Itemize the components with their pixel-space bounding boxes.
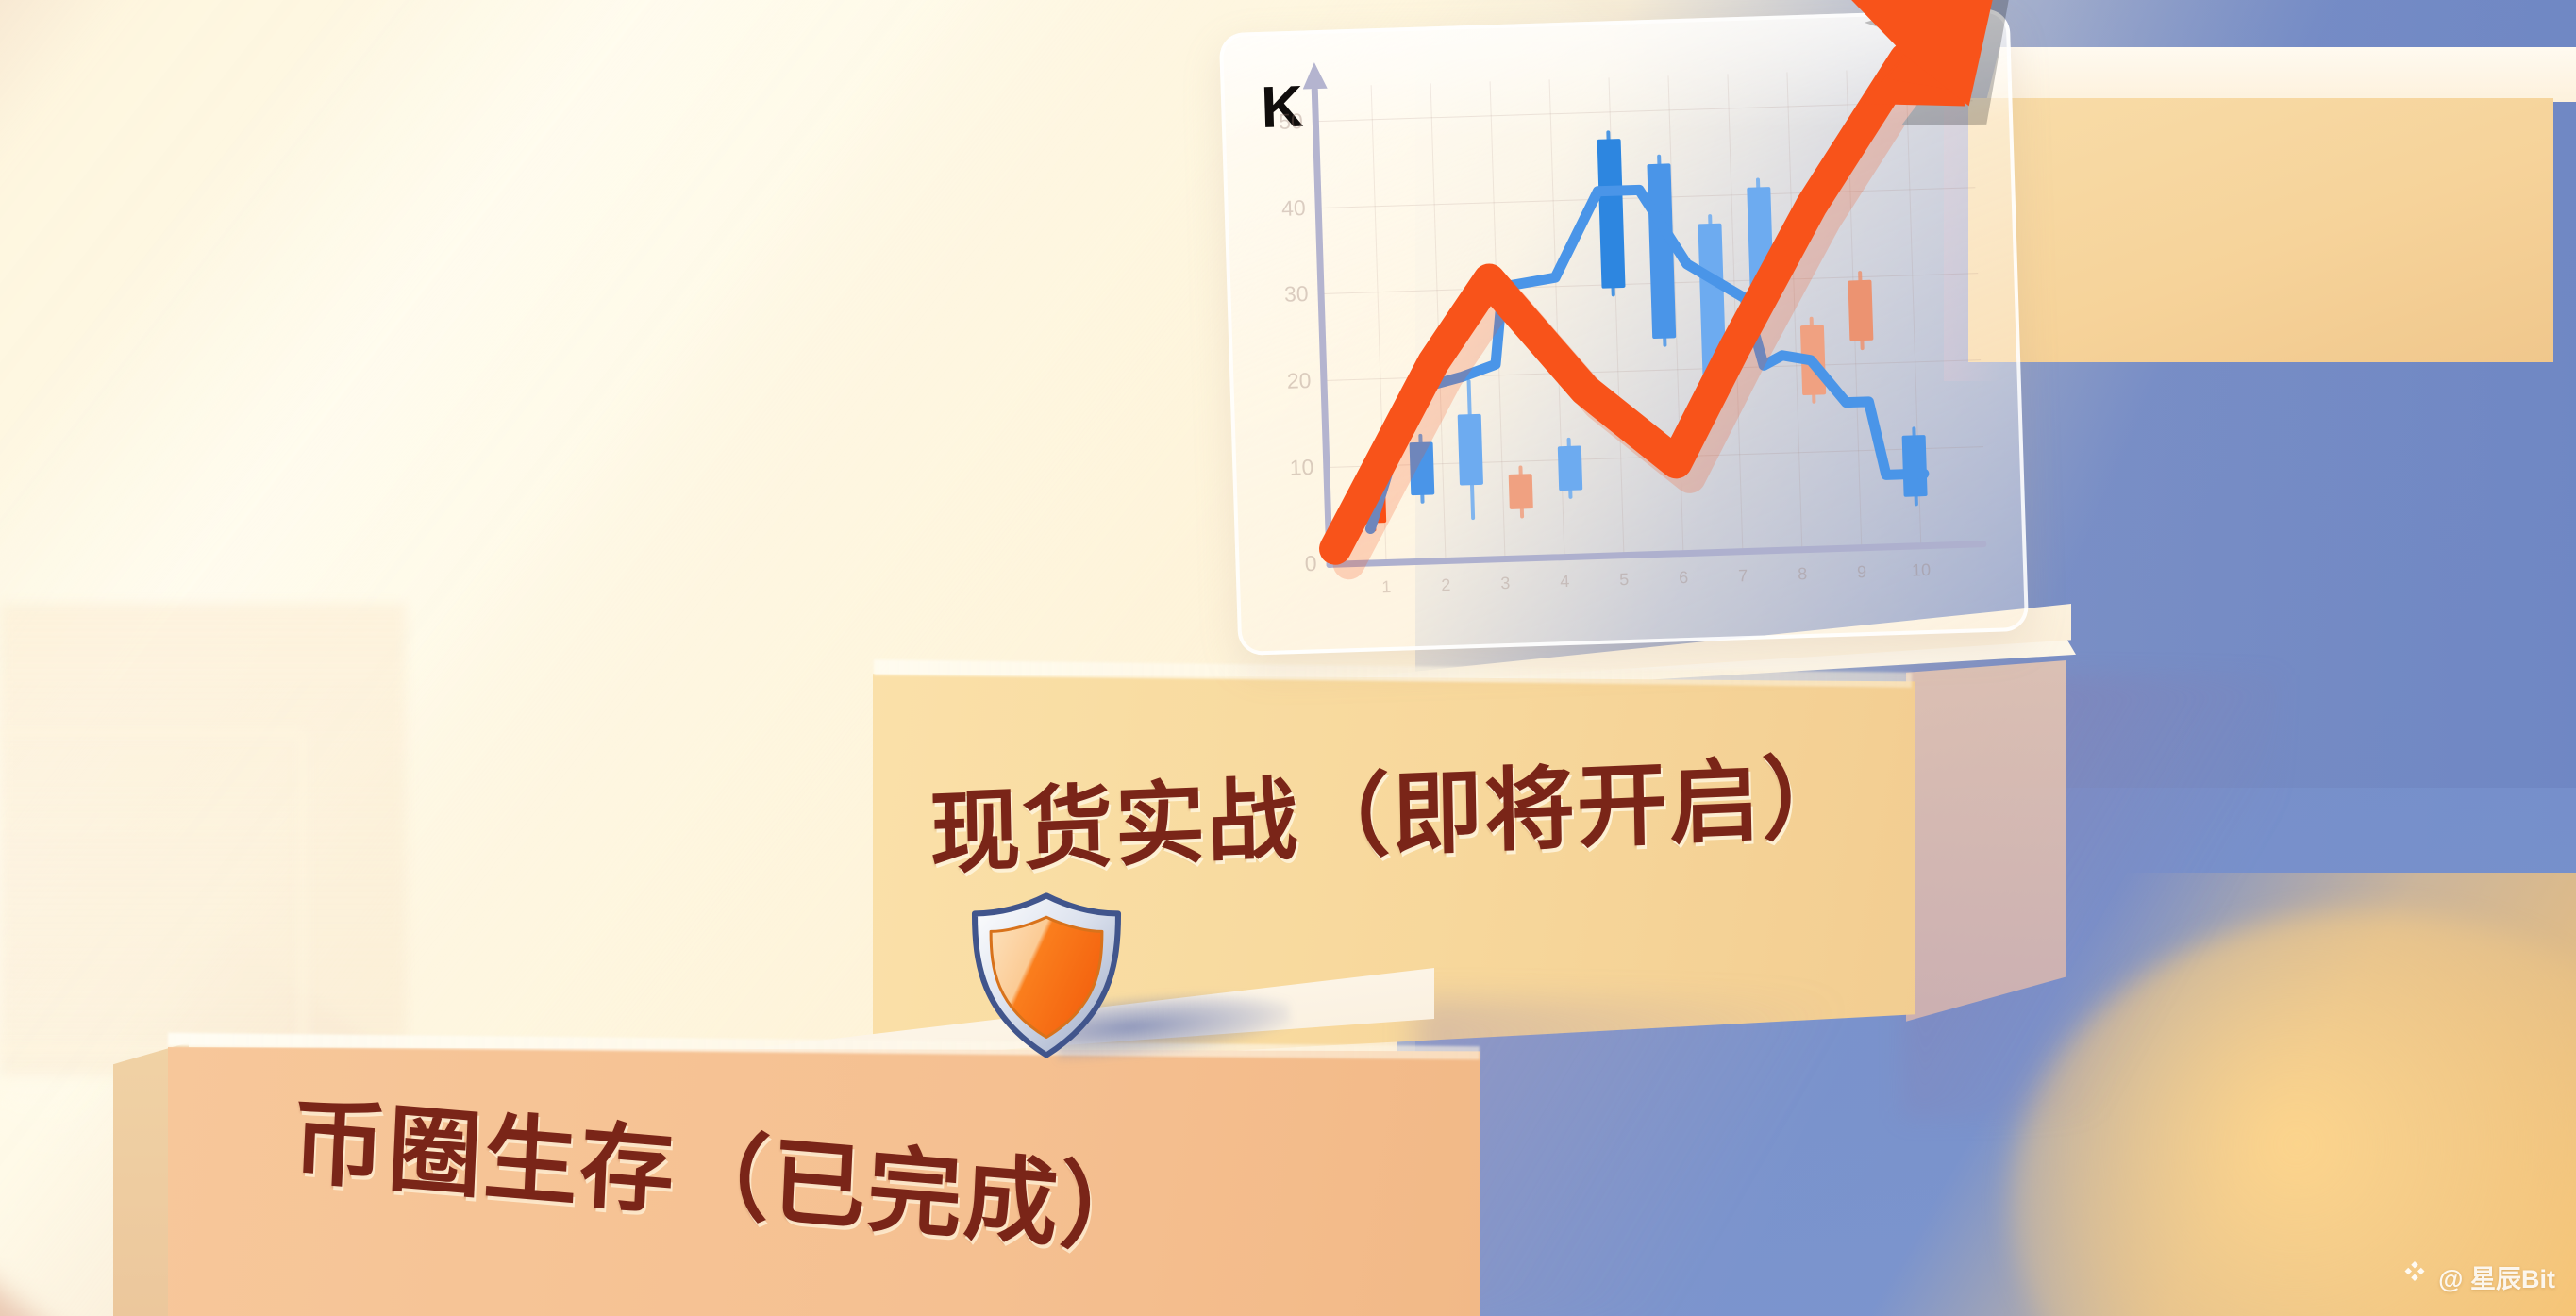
step-3-top-face	[1986, 47, 2576, 102]
background-frame-left	[0, 726, 309, 1055]
step-2-label: 现货实战（即将开启）	[928, 723, 1874, 891]
security-shield-icon	[957, 885, 1136, 1064]
step-1-label: 币圈生存（已完成）	[289, 1064, 1424, 1295]
watermark: @ 星辰Bit	[2400, 1258, 2555, 1295]
k-line-chart-panel[interactable]: K 50 40	[1219, 8, 2029, 656]
step-1-front-face[interactable]: 币圈生存（已完成）	[168, 1047, 1480, 1316]
illustration-scene: 现货实战（即将开启） 币圈生存（已完成）	[0, 0, 2576, 1316]
upward-trend-arrow	[1278, 0, 2054, 625]
watermark-handle: @ 星辰Bit	[2438, 1258, 2555, 1295]
step-3-front-face	[1968, 98, 2553, 362]
chart-plot-area: 50 40 30 20 10 0 1 2 3 4 5 6 7 8 9 10	[1312, 66, 1987, 568]
step-1-cast-shadow	[1415, 1000, 1849, 1316]
binance-diamond-icon	[2400, 1259, 2429, 1294]
